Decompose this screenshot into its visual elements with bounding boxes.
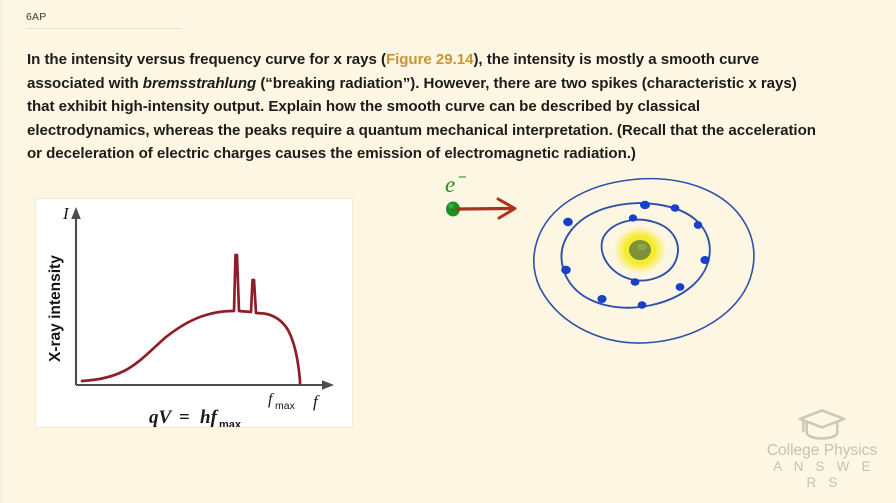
- xray-spectrum-figure: I X-ray intensity f f max qV = hf max: [36, 199, 352, 427]
- question-text: In the intensity versus frequency curve …: [27, 48, 822, 166]
- chart-axes: [71, 207, 334, 390]
- svg-text:qV: qV: [149, 407, 173, 427]
- x-axis-symbol: f: [313, 392, 320, 411]
- logo-line-2: A N S W E R S: [762, 459, 882, 491]
- svg-text:f: f: [268, 391, 275, 408]
- header-divider: [26, 28, 181, 29]
- svg-text:=: =: [179, 407, 190, 427]
- free-electron-dot: [446, 202, 460, 217]
- svg-text:−: −: [458, 169, 467, 186]
- question-italic-term: bremsstrahlung: [143, 75, 256, 92]
- atom-annotation-drawing: e −: [430, 160, 780, 360]
- page-title: 6AP: [26, 10, 181, 24]
- figure-caption-equation: qV = hf max: [149, 407, 242, 427]
- free-electron-dot-highlight: [448, 204, 453, 209]
- page-root: 6AP In the intensity versus frequency cu…: [0, 0, 896, 503]
- graduation-cap-icon: [796, 407, 848, 441]
- logo-line-1: College Physics: [762, 442, 882, 459]
- svg-text:max: max: [219, 419, 242, 427]
- page-left-edge: [0, 0, 7, 503]
- spectrum-curve: [82, 255, 300, 381]
- free-electron-label: e −: [445, 169, 467, 197]
- orbit-inner: [602, 220, 678, 281]
- nucleus-highlight: [637, 244, 647, 250]
- question-part-1: In the intensity versus frequency curve …: [27, 51, 386, 68]
- orbit-middle: [561, 203, 709, 307]
- college-physics-answers-logo: College Physics A N S W E R S: [762, 407, 882, 491]
- orbit-outer: [534, 179, 754, 343]
- xray-spectrum-svg: I X-ray intensity f f max qV = hf max: [36, 199, 352, 427]
- figure-reference-link[interactable]: Figure 29.14: [386, 51, 474, 68]
- header: 6AP: [26, 10, 181, 29]
- svg-text:e: e: [445, 172, 455, 197]
- y-axis-symbol: I: [62, 204, 70, 223]
- electron-motion-arrow: [458, 199, 515, 218]
- svg-text:hf: hf: [200, 407, 219, 427]
- inner-orbit-electrons: [629, 214, 640, 285]
- svg-text:max: max: [275, 400, 296, 412]
- orbit-electrons: [561, 201, 709, 309]
- nucleus-glow: [614, 226, 666, 274]
- x-axis-tick-label-fmax: f max: [268, 391, 296, 412]
- atom-drawing-svg: e −: [430, 160, 780, 360]
- y-axis-label: X-ray intensity: [47, 255, 64, 362]
- nucleus: [629, 240, 651, 260]
